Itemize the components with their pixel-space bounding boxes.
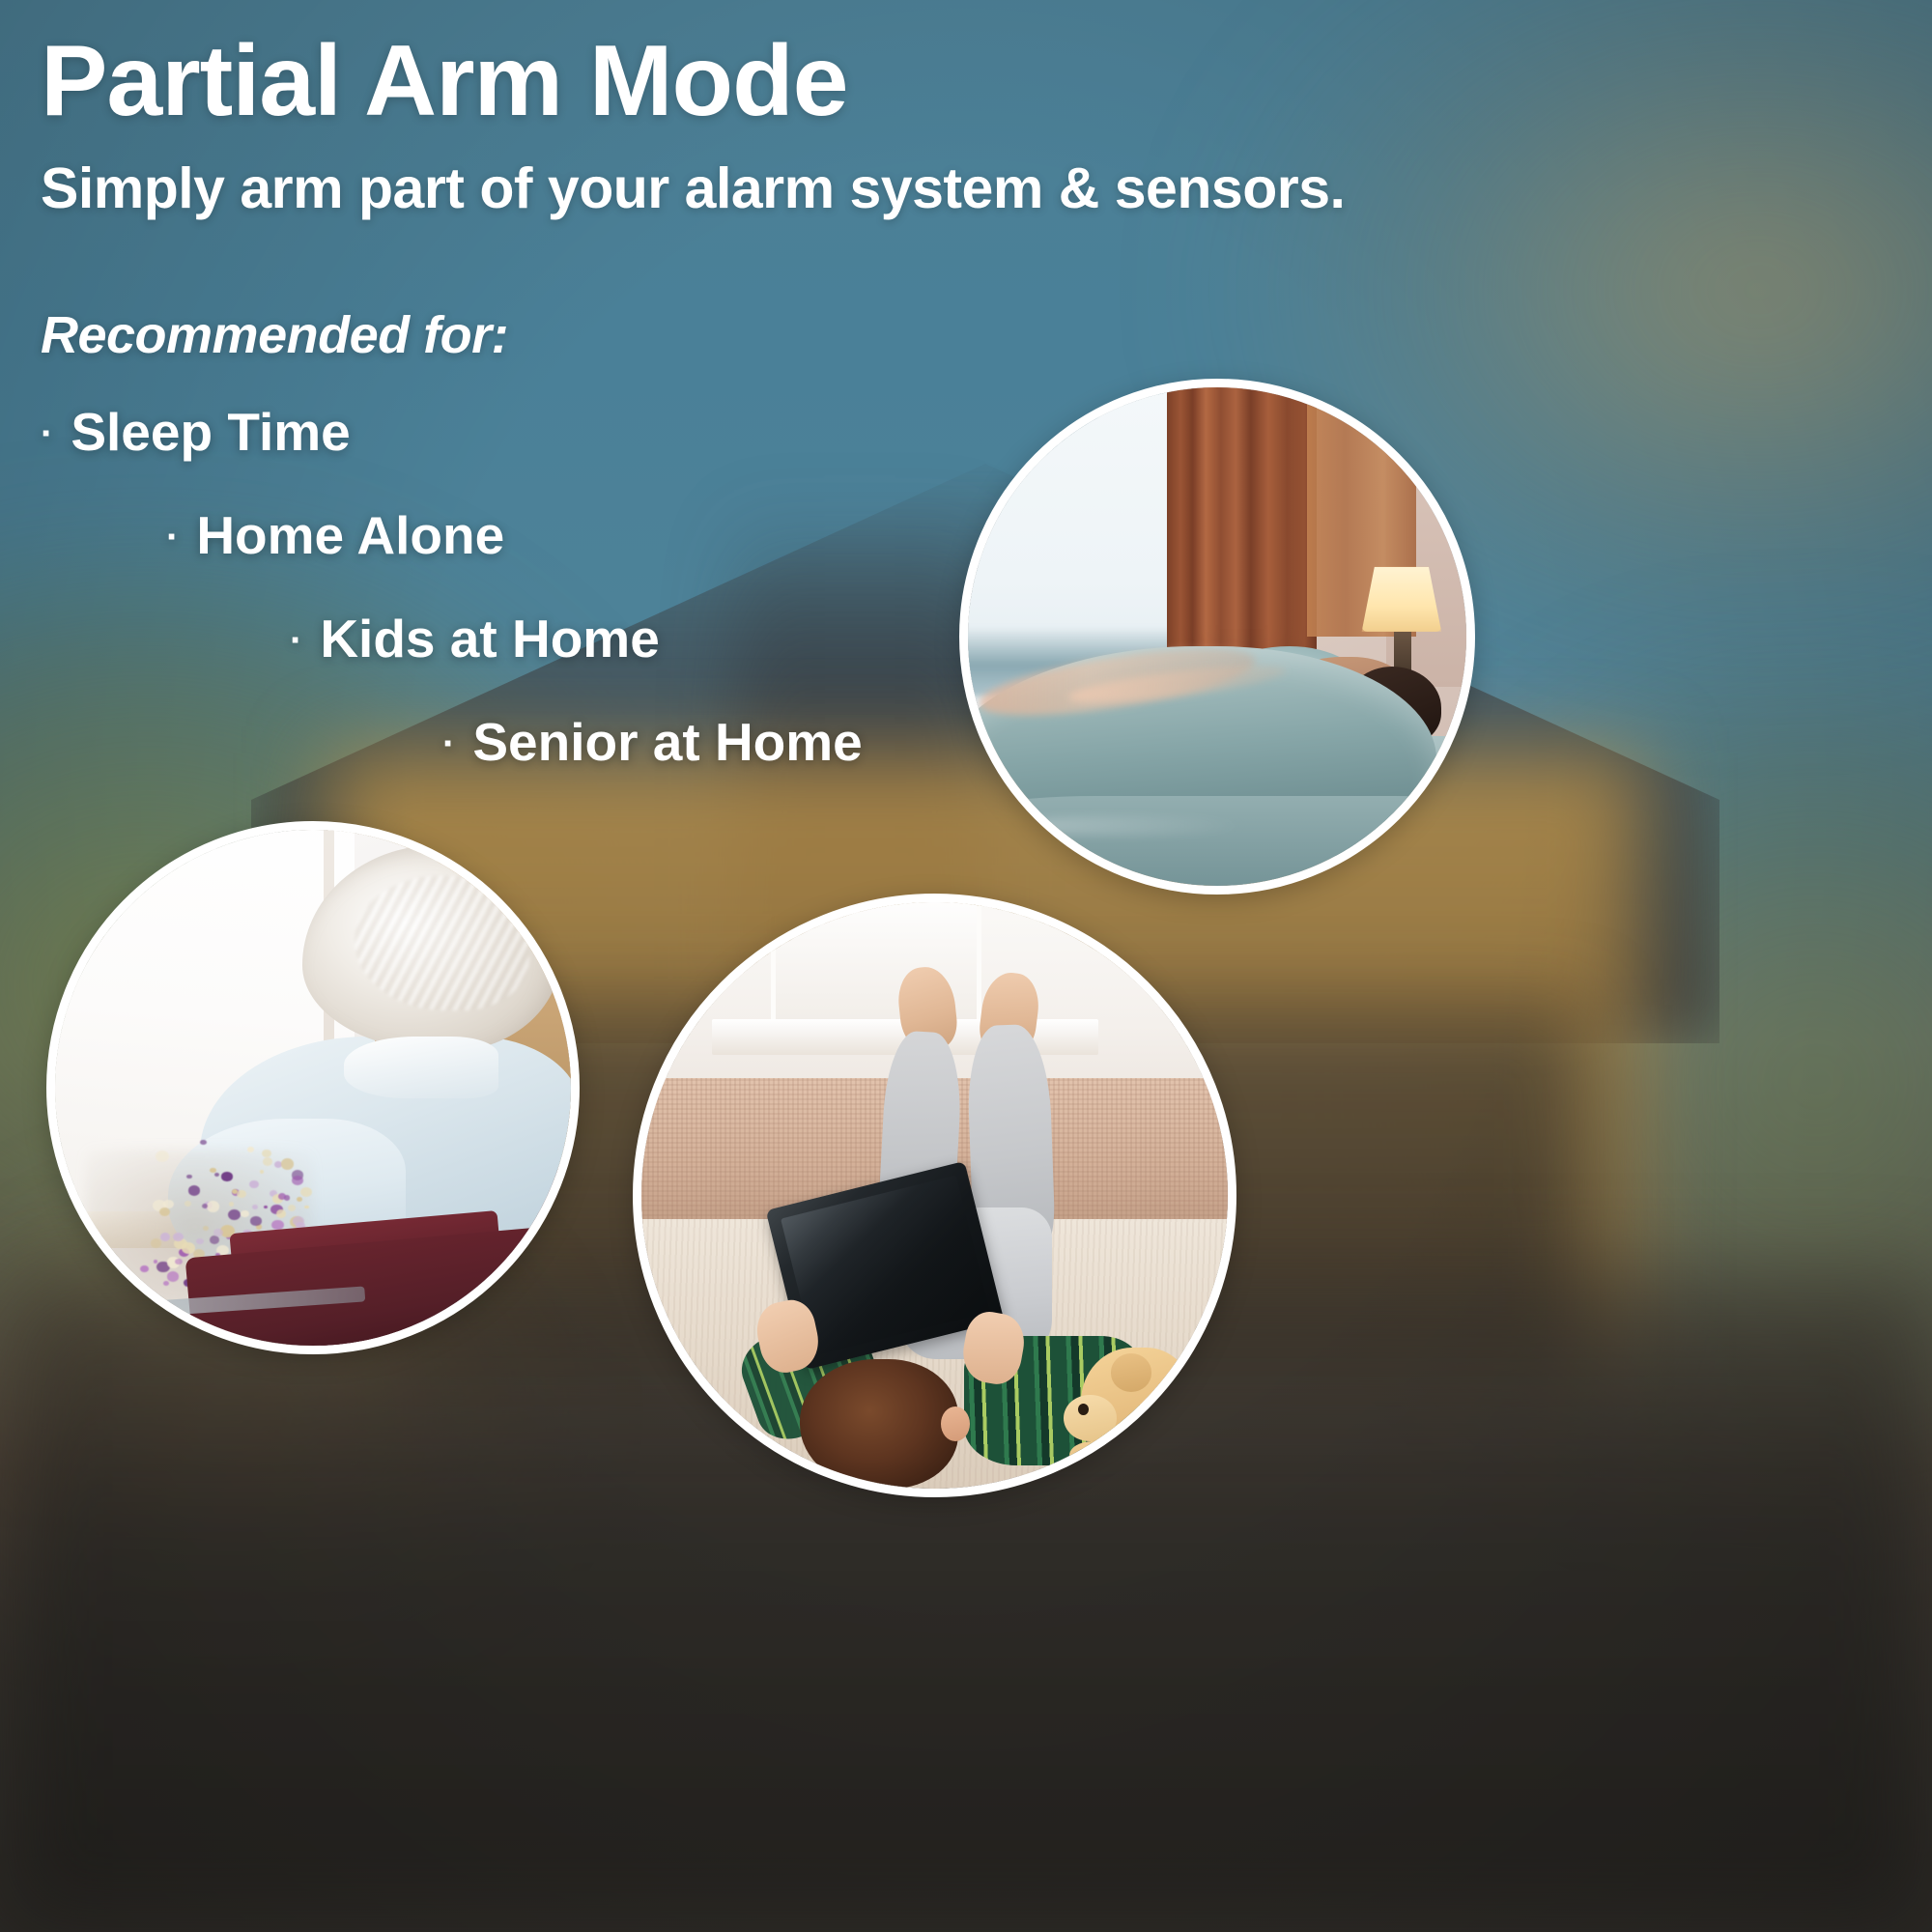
- bullet-dot-icon: ·: [442, 724, 455, 763]
- photo-circle-senior-wheelchair: [46, 821, 580, 1354]
- flower-blossom: [288, 1205, 296, 1211]
- bedside-lamp-base: [1394, 632, 1411, 671]
- bullet-dot-icon: ·: [41, 414, 53, 453]
- flower-blossom: [186, 1175, 192, 1179]
- flower-blossom: [262, 1150, 271, 1158]
- list-item-label: Home Alone: [196, 509, 504, 562]
- flower-blossom: [207, 1201, 220, 1212]
- flower-blossom: [214, 1173, 219, 1178]
- photo-circle-child-with-tablet: [633, 894, 1236, 1497]
- child-head: [800, 1359, 958, 1489]
- flower-blossom: [237, 1190, 246, 1198]
- flower-blossom: [151, 1238, 161, 1248]
- scene-bedroom: [968, 387, 1466, 886]
- flower-blossom: [210, 1236, 219, 1244]
- flower-blossom: [221, 1172, 232, 1181]
- flower-blossom: [156, 1151, 169, 1162]
- bullet-dot-icon: ·: [166, 518, 179, 556]
- flower-blossom: [160, 1233, 171, 1241]
- senior-jacket-collar: [344, 1037, 498, 1098]
- flower-blossom: [281, 1158, 295, 1170]
- flower-blossom: [196, 1238, 203, 1244]
- scene-living-room: [641, 902, 1228, 1489]
- flower-blossom: [140, 1265, 149, 1272]
- flower-blossom: [249, 1180, 259, 1189]
- bed-sheet: [968, 796, 1466, 886]
- bedside-lamp-shade: [1362, 567, 1442, 632]
- flower-blossom: [276, 1209, 286, 1218]
- poster-canvas: Partial Arm Mode Simply arm part of your…: [0, 0, 1932, 1932]
- recommended-for-label: Recommended for:: [41, 305, 1586, 365]
- flower-blossom: [304, 1206, 308, 1209]
- flower-blossom: [175, 1259, 182, 1264]
- flower-blossom: [182, 1242, 195, 1254]
- flower-blossom: [167, 1271, 180, 1282]
- list-item-label: Senior at Home: [472, 716, 862, 769]
- page-subtitle: Simply arm part of your alarm system & s…: [41, 156, 1586, 220]
- flower-blossom: [213, 1229, 222, 1236]
- flower-blossom: [264, 1206, 268, 1208]
- list-item-label: Sleep Time: [71, 406, 350, 459]
- flower-blossom: [188, 1185, 200, 1195]
- flower-blossom: [260, 1170, 265, 1174]
- teddy-bear-paw: [1069, 1441, 1128, 1476]
- flower-blossom: [252, 1205, 258, 1209]
- flower-blossom: [300, 1187, 312, 1197]
- flower-blossom: [229, 1202, 234, 1206]
- child-ear: [941, 1406, 970, 1441]
- flower-blossom: [200, 1140, 207, 1146]
- teddy-bear-snout: [1064, 1395, 1117, 1442]
- flower-blossom: [263, 1157, 272, 1166]
- photo-circle-sleeping-woman: [959, 379, 1475, 895]
- scene-senior-room: [55, 830, 571, 1346]
- teddy-bear-ear: [1111, 1353, 1151, 1391]
- senior-hair-waves: [355, 876, 530, 1010]
- flower-blossom: [232, 1189, 238, 1194]
- flower-blossom: [159, 1207, 170, 1216]
- flower-blossom: [250, 1216, 261, 1226]
- flower-blossom: [292, 1176, 303, 1185]
- bullet-dot-icon: ·: [290, 621, 302, 660]
- flower-blossom: [163, 1281, 169, 1286]
- flower-blossom: [185, 1201, 191, 1207]
- flower-blossom: [228, 1209, 241, 1220]
- flower-blossom: [203, 1226, 209, 1231]
- list-item-label: Kids at Home: [320, 612, 659, 666]
- flower-blossom: [297, 1197, 302, 1202]
- flower-blossom: [241, 1210, 249, 1218]
- flower-blossom: [247, 1147, 254, 1152]
- page-title: Partial Arm Mode: [41, 29, 1586, 133]
- flower-blossom: [173, 1233, 184, 1241]
